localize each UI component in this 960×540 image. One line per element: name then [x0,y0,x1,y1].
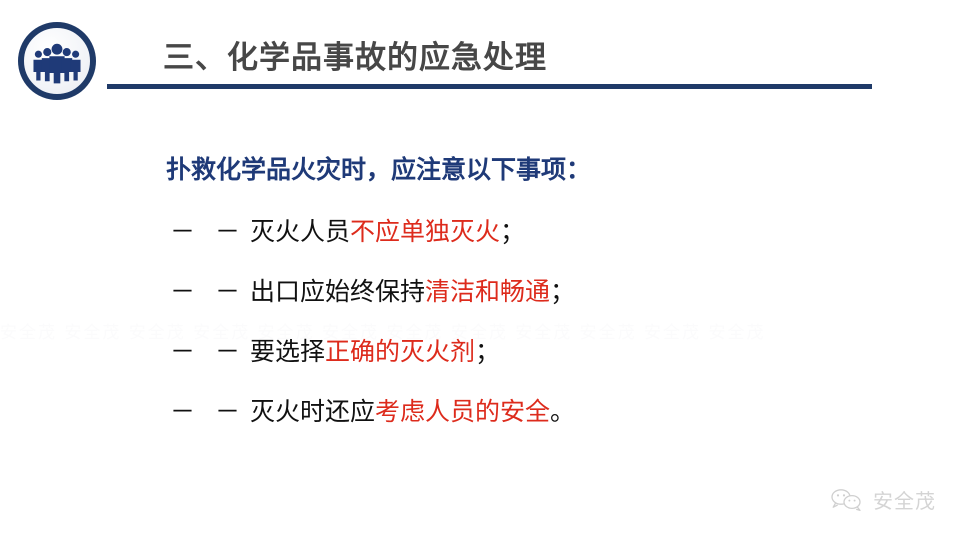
list-item: － －出口应始终保持清洁和畅通； [170,262,890,322]
page-title: 三、化学品事故的应急处理 [163,32,547,77]
brand-name-label: 安全茂 [873,485,936,514]
list-item: － －灭火人员不应单独灭火； [170,202,890,262]
bullet-text-plain: 灭火人员 [250,217,350,246]
group-of-people-icon [24,28,90,94]
bullet-punctuation: ； [500,217,525,246]
logo-badge [18,22,96,100]
bullet-text-plain: 出口应始终保持 [250,277,425,306]
footer-brand: 安全茂 [830,485,936,514]
list-item: － －灭火时还应考虑人员的安全。 [170,382,890,442]
bullet-text-highlight: 清洁和畅通 [425,277,550,306]
bullet-text-highlight: 不应单独灭火 [350,217,500,246]
bullet-text-highlight: 考虑人员的安全 [375,397,550,426]
watermark-band: 安全茂 安全茂 安全茂 安全茂 安全茂 安全茂 安全茂 安全茂 安全茂 安全茂 … [0,318,960,343]
slide-canvas: 三、化学品事故的应急处理 扑救化学品火灾时，应注意以下事项： － －灭火人员不应… [0,0,960,540]
section-lead-text: 扑救化学品火灾时，应注意以下事项： [166,150,591,186]
bullet-marker: － － [170,217,246,246]
bullet-punctuation: 。 [550,397,575,426]
title-divider [107,84,872,89]
bullet-marker: － － [170,397,246,426]
bullet-text-plain: 灭火时还应 [250,397,375,426]
slide-header: 三、化学品事故的应急处理 [0,0,960,110]
bullet-marker: － － [170,277,246,306]
wechat-icon [830,487,864,513]
bullet-punctuation: ； [550,277,575,306]
